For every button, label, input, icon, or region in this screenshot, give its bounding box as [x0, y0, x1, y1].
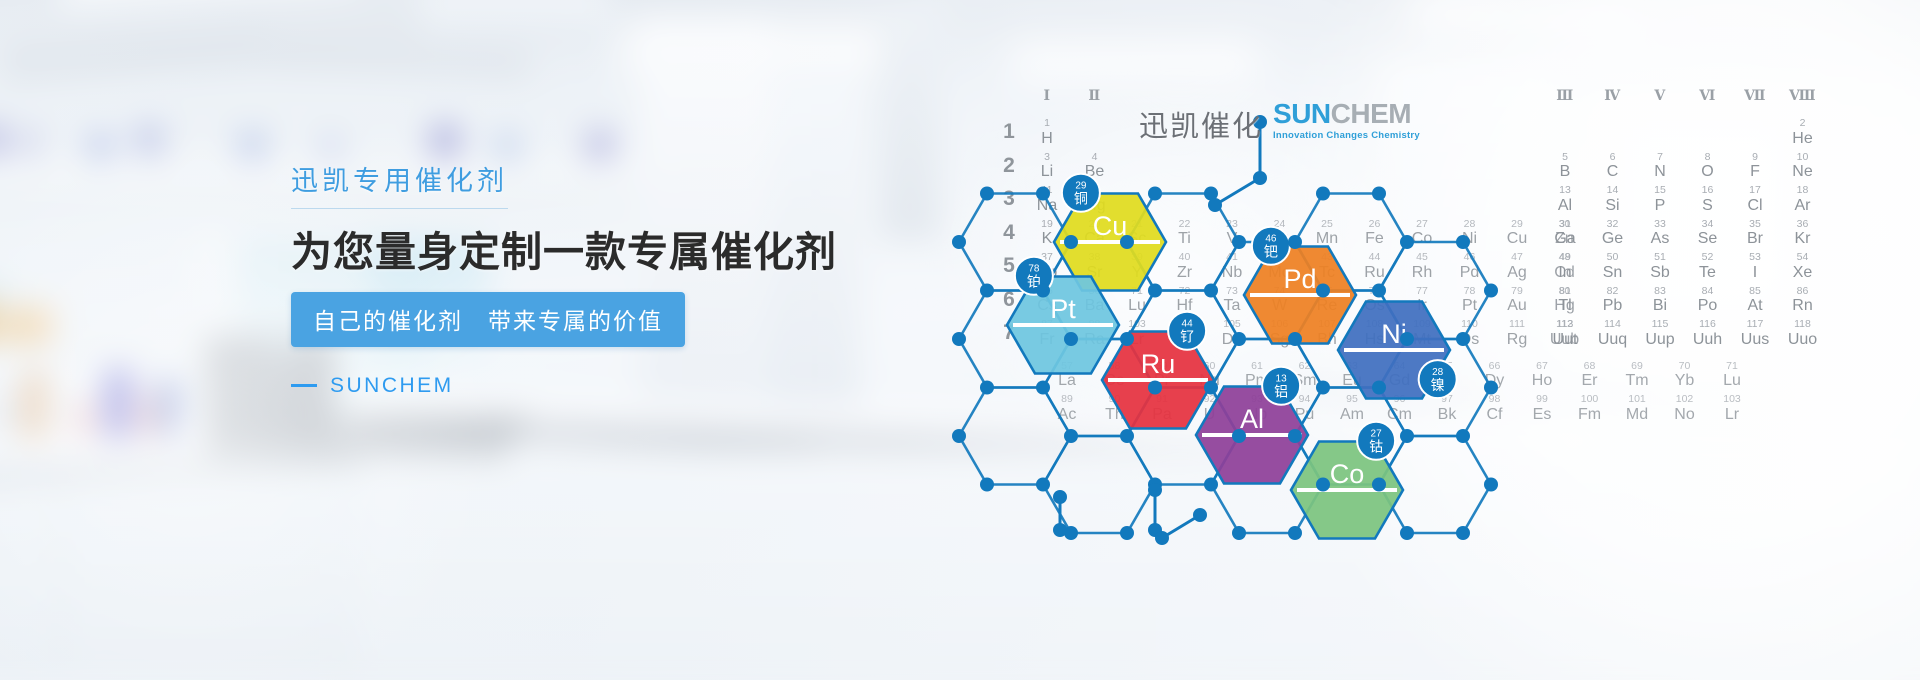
element-number: 71: [1715, 361, 1749, 372]
periodic-element: 10Ne: [1786, 152, 1820, 181]
element-symbol: Pb: [1596, 298, 1630, 314]
element-number: 84: [1691, 286, 1725, 297]
network-node: [1036, 187, 1050, 201]
element-number: 14: [1596, 185, 1630, 196]
hero-headline: 为您量身定制一款专属催化剂: [291, 230, 931, 276]
element-number: 36: [1786, 219, 1820, 230]
periodic-element: 69Tm: [1620, 361, 1654, 390]
eyebrow-wrapper: 迅凯专用催化剂: [291, 168, 931, 209]
element-symbol: Uuq: [1596, 332, 1630, 348]
element-symbol: Uus: [1738, 332, 1772, 348]
element-symbol: Al: [1548, 198, 1582, 214]
periodic-element: 118Uuo: [1786, 319, 1820, 348]
periodic-element: 49In: [1548, 252, 1582, 281]
element-symbol: Se: [1691, 231, 1725, 247]
periodic-element: 51Sb: [1643, 252, 1677, 281]
network-node: [1064, 429, 1078, 443]
periodic-element: 101Md: [1620, 394, 1654, 423]
element-number: 8: [1691, 152, 1725, 163]
network-node: [1372, 284, 1386, 298]
network-node: [1316, 381, 1330, 395]
element-symbol: S: [1691, 198, 1725, 214]
network-node: [1253, 171, 1267, 185]
hexagon-symbol: Cu: [1093, 211, 1128, 241]
element-number: 31: [1548, 219, 1582, 230]
periodic-element: 18Ar: [1786, 185, 1820, 214]
network-node: [1456, 332, 1470, 346]
network-node: [1204, 381, 1218, 395]
element-number: 86: [1786, 286, 1820, 297]
network-node: [980, 284, 994, 298]
periodic-element: 13Al: [1548, 185, 1582, 214]
element-number: 13: [1548, 185, 1582, 196]
network-node: [1484, 381, 1498, 395]
element-symbol: Br: [1738, 231, 1772, 247]
periodic-element: 103Lr: [1715, 394, 1749, 423]
periodic-element: 14Si: [1596, 185, 1630, 214]
network-hex-outline: [959, 388, 1071, 485]
network-node: [1372, 381, 1386, 395]
periodic-element: 52Te: [1691, 252, 1725, 281]
network-node: [1148, 284, 1162, 298]
network-node: [1372, 187, 1386, 201]
network-node: [1316, 187, 1330, 201]
element-symbol: Sb: [1643, 265, 1677, 281]
element-number: 101: [1620, 394, 1654, 405]
network-node: [980, 478, 994, 492]
element-hexagon[interactable]: Co27钴: [1291, 422, 1403, 539]
element-symbol: Sn: [1596, 265, 1630, 281]
element-number: 17: [1738, 185, 1772, 196]
network-node: [1053, 490, 1067, 504]
network-node: [980, 381, 994, 395]
hexagon-badge-chinese: 镍: [1431, 377, 1445, 393]
element-number: 103: [1715, 394, 1749, 405]
element-number: 18: [1786, 185, 1820, 196]
periodic-element: 31Ga: [1548, 219, 1582, 248]
element-number: 85: [1738, 286, 1772, 297]
network-node: [1484, 284, 1498, 298]
periodic-element: 71Lu: [1715, 361, 1749, 390]
element-number: 54: [1786, 252, 1820, 263]
sunchem-logo: 迅凯催化 SUNCHEM Innovation Changes Chemistr…: [1139, 100, 1420, 142]
periodic-element: 116Uuh: [1691, 319, 1725, 348]
element-symbol: N: [1643, 164, 1677, 180]
network-node: [1120, 332, 1134, 346]
element-symbol: Tl: [1548, 298, 1582, 314]
periodic-element: 117Uus: [1738, 319, 1772, 348]
periodic-element: 36Kr: [1786, 219, 1820, 248]
network-node: [1120, 526, 1134, 540]
element-symbol: I: [1738, 265, 1772, 281]
network-node: [1155, 531, 1169, 545]
element-symbol: Ga: [1548, 231, 1582, 247]
element-number: 82: [1596, 286, 1630, 297]
periodic-element: 2He: [1786, 118, 1820, 147]
element-symbol: Yb: [1668, 373, 1702, 389]
network-node: [1193, 508, 1207, 522]
hexagon-badge-chinese: 钌: [1180, 329, 1194, 345]
element-symbol: Bi: [1643, 298, 1677, 314]
group-header: Ⅶ: [1738, 88, 1772, 105]
hexagon-badge-chinese: 钴: [1369, 439, 1383, 455]
hexagon-symbol: Pt: [1050, 294, 1076, 324]
element-number: 5: [1548, 152, 1582, 163]
hexagon-badge-chinese: 铜: [1074, 191, 1088, 207]
network-node: [1288, 332, 1302, 346]
element-number: 32: [1596, 219, 1630, 230]
network-node: [1036, 381, 1050, 395]
element-symbol: Ge: [1596, 231, 1630, 247]
network-node: [952, 429, 966, 443]
periodic-element: 54Xe: [1786, 252, 1820, 281]
element-hexagon[interactable]: Ni28镍: [1338, 302, 1457, 399]
periodic-element: 115Uup: [1643, 319, 1677, 348]
element-symbol: C: [1596, 164, 1630, 180]
hexagon-symbol: Co: [1330, 459, 1365, 489]
network-node: [1288, 526, 1302, 540]
element-number: 67: [1525, 361, 1559, 372]
logo-tagline: Innovation Changes Chemistry: [1273, 131, 1420, 141]
periodic-element: 113Uut: [1548, 319, 1582, 348]
hero-eyebrow: 迅凯专用催化剂: [291, 168, 508, 209]
periodic-element: 85At: [1738, 286, 1772, 315]
element-number: 116: [1691, 319, 1725, 330]
periodic-element: 15P: [1643, 185, 1677, 214]
element-hexagon[interactable]: Ru44钌: [1102, 312, 1214, 429]
network-node: [1148, 381, 1162, 395]
periodic-element: 70Yb: [1668, 361, 1702, 390]
element-symbol: Uuh: [1691, 332, 1725, 348]
group-header: Ⅴ: [1643, 88, 1677, 105]
element-number: 16: [1691, 185, 1725, 196]
element-symbol: Es: [1525, 407, 1559, 423]
network-node: [980, 187, 994, 201]
network-node: [1288, 429, 1302, 443]
element-symbol: Lu: [1715, 373, 1749, 389]
element-number: 113: [1548, 319, 1582, 330]
group-header: Ⅳ: [1596, 88, 1630, 105]
logo-chem-text: CHEM: [1331, 98, 1411, 129]
periodic-element: 100Fm: [1573, 394, 1607, 423]
network-node: [1232, 332, 1246, 346]
group-header: Ⅵ: [1691, 88, 1725, 105]
periodic-element: 35Br: [1738, 219, 1772, 248]
element-number: 83: [1643, 286, 1677, 297]
network-node: [1456, 235, 1470, 249]
element-number: 99: [1525, 394, 1559, 405]
element-number: 10: [1786, 152, 1820, 163]
element-number: 115: [1643, 319, 1677, 330]
element-symbol: Te: [1691, 265, 1725, 281]
network-node: [1456, 429, 1470, 443]
periodic-element: 6C: [1596, 152, 1630, 181]
element-number: 51: [1643, 252, 1677, 263]
element-number: 69: [1620, 361, 1654, 372]
periodic-element: 17Cl: [1738, 185, 1772, 214]
element-symbol: Rn: [1786, 298, 1820, 314]
periodic-element: 68Er: [1573, 361, 1607, 390]
logo-chinese-text: 迅凯催化: [1139, 113, 1263, 142]
element-number: 70: [1668, 361, 1702, 372]
network-node: [952, 332, 966, 346]
element-symbol: Ne: [1786, 164, 1820, 180]
element-symbol: No: [1668, 407, 1702, 423]
element-symbol: P: [1643, 198, 1677, 214]
element-symbol: Po: [1691, 298, 1725, 314]
element-number: 6: [1596, 152, 1630, 163]
element-symbol: At: [1738, 298, 1772, 314]
periodic-element: 16S: [1691, 185, 1725, 214]
network-node: [1053, 523, 1067, 537]
group-header: Ⅲ: [1548, 88, 1582, 105]
element-symbol: Er: [1573, 373, 1607, 389]
network-node: [1204, 478, 1218, 492]
element-symbol: O: [1691, 164, 1725, 180]
network-node: [1148, 483, 1162, 497]
element-symbol: He: [1786, 131, 1820, 147]
periodic-element: 67Ho: [1525, 361, 1559, 390]
network-node: [1456, 526, 1470, 540]
network-node: [1208, 198, 1222, 212]
signature-dash-icon: [291, 384, 317, 387]
network-node: [1064, 332, 1078, 346]
signature-brand: SUNCHEM: [330, 374, 454, 398]
element-number: 114: [1596, 319, 1630, 330]
network-node: [1400, 526, 1414, 540]
periodic-element: 34Se: [1691, 219, 1725, 248]
hexagon-symbol: Ru: [1141, 349, 1176, 379]
network-node: [1120, 429, 1134, 443]
element-symbol: As: [1643, 231, 1677, 247]
element-symbol: Uuo: [1786, 332, 1820, 348]
network-node: [1316, 284, 1330, 298]
group-header: Ⅷ: [1786, 88, 1820, 105]
periodic-element: 84Po: [1691, 286, 1725, 315]
element-symbol: Tm: [1620, 373, 1654, 389]
network-node: [1036, 478, 1050, 492]
periodic-element: 7N: [1643, 152, 1677, 181]
network-node: [1400, 429, 1414, 443]
logo-sun-text: SUN: [1273, 98, 1331, 129]
hexagon-badge-chinese: 铝: [1274, 384, 1288, 400]
hexagon-symbol: Al: [1240, 404, 1264, 434]
network-node: [1120, 235, 1134, 249]
periodic-element: 32Ge: [1596, 219, 1630, 248]
periodic-element: 99Es: [1525, 394, 1559, 423]
network-node: [952, 235, 966, 249]
periodic-element: 50Sn: [1596, 252, 1630, 281]
element-number: 9: [1738, 152, 1772, 163]
periodic-element: 82Pb: [1596, 286, 1630, 315]
element-symbol: Ho: [1525, 373, 1559, 389]
element-symbol: Xe: [1786, 265, 1820, 281]
periodic-element: 9F: [1738, 152, 1772, 181]
element-symbol: B: [1548, 164, 1582, 180]
element-number: 53: [1738, 252, 1772, 263]
element-symbol: Si: [1596, 198, 1630, 214]
element-number: 7: [1643, 152, 1677, 163]
network-node: [1484, 478, 1498, 492]
element-symbol: Md: [1620, 407, 1654, 423]
hexagon-symbol: Pd: [1283, 264, 1316, 294]
logo-wordmark: SUNCHEM: [1273, 100, 1420, 128]
logo-english-block: SUNCHEM Innovation Changes Chemistry: [1273, 100, 1420, 142]
element-symbol: In: [1548, 265, 1582, 281]
network-node: [1232, 235, 1246, 249]
element-symbol: Lr: [1715, 407, 1749, 423]
pill-wrapper: 自己的催化剂 带来专属的价值: [291, 276, 931, 347]
element-number: 49: [1548, 252, 1582, 263]
periodic-element: 114Uuq: [1596, 319, 1630, 348]
hero-copy: 迅凯专用催化剂 为您量身定制一款专属催化剂 自己的催化剂 带来专属的价值 SUN…: [291, 168, 931, 398]
hero-signature: SUNCHEM: [291, 374, 931, 398]
element-symbol: F: [1738, 164, 1772, 180]
element-symbol: Uut: [1548, 332, 1582, 348]
element-number: 2: [1786, 118, 1820, 129]
periodic-element: 83Bi: [1643, 286, 1677, 315]
element-symbol: Cl: [1738, 198, 1772, 214]
network-node: [1232, 526, 1246, 540]
element-number: 15: [1643, 185, 1677, 196]
banner-stage: ⅠⅡⅢⅣⅤⅥⅦⅧ12345671H3Li4Be11Na12Mg19K20Ca37…: [0, 0, 1920, 680]
network-node: [1204, 284, 1218, 298]
network-node: [1148, 187, 1162, 201]
element-symbol: Kr: [1786, 231, 1820, 247]
network-node: [1316, 478, 1330, 492]
element-number: 117: [1738, 319, 1772, 330]
network-node: [1400, 332, 1414, 346]
network-node: [1036, 284, 1050, 298]
periodic-element: 86Rn: [1786, 286, 1820, 315]
hero-tagline-pill: 自己的催化剂 带来专属的价值: [291, 292, 685, 347]
element-number: 118: [1786, 319, 1820, 330]
network-node: [1064, 235, 1078, 249]
network-node: [1232, 429, 1246, 443]
element-number: 68: [1573, 361, 1607, 372]
element-number: 100: [1573, 394, 1607, 405]
periodic-element: 102No: [1668, 394, 1702, 423]
element-number: 52: [1691, 252, 1725, 263]
network-node: [1400, 235, 1414, 249]
periodic-element: 81Tl: [1548, 286, 1582, 315]
network-node: [1288, 235, 1302, 249]
network-link: [1215, 178, 1260, 205]
network-node: [1372, 478, 1386, 492]
periodic-element: 8O: [1691, 152, 1725, 181]
hexagon-badge-chinese: 钯: [1264, 244, 1278, 260]
periodic-element: 5B: [1548, 152, 1582, 181]
periodic-element: 33As: [1643, 219, 1677, 248]
periodic-element: 53I: [1738, 252, 1772, 281]
element-number: 35: [1738, 219, 1772, 230]
element-number: 50: [1596, 252, 1630, 263]
element-symbol: Fm: [1573, 407, 1607, 423]
element-symbol: Ar: [1786, 198, 1820, 214]
element-number: 102: [1668, 394, 1702, 405]
element-symbol: Uup: [1643, 332, 1677, 348]
element-number: 81: [1548, 286, 1582, 297]
element-number: 33: [1643, 219, 1677, 230]
element-number: 34: [1691, 219, 1725, 230]
